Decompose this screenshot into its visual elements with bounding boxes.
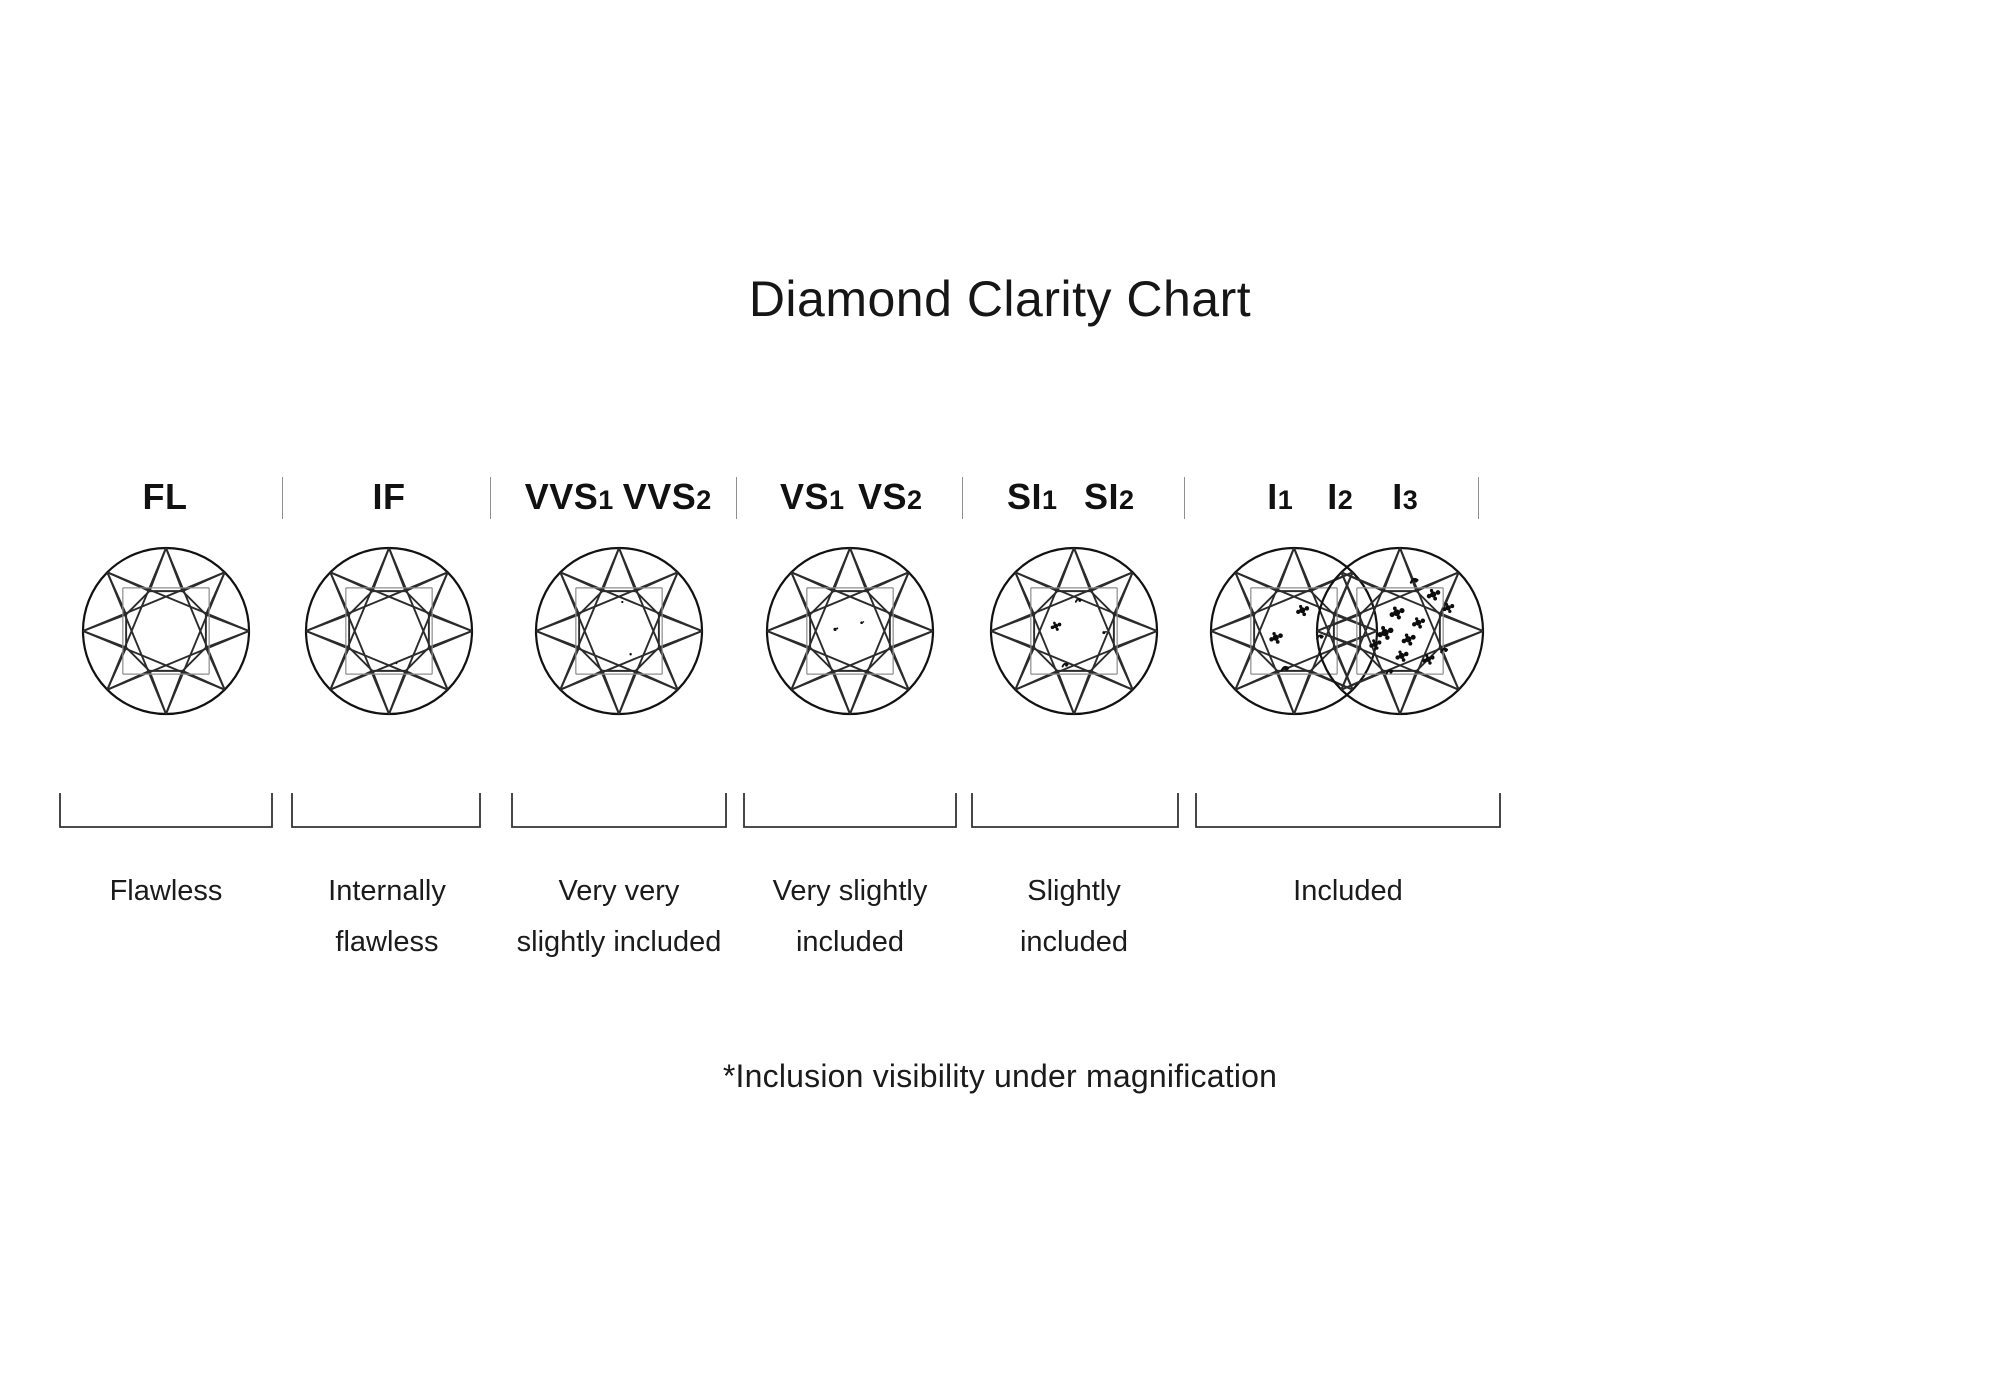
star-facet-edge: [1440, 631, 1483, 648]
inclusion-dot: [1448, 610, 1451, 613]
inclusion-cluster: [1369, 639, 1381, 649]
inclusion-dot: [1408, 642, 1412, 646]
grade-label-si1: SI1: [1007, 475, 1057, 522]
inclusion-dot: [621, 601, 623, 603]
upper-girdle-chord: [1341, 572, 1400, 714]
star-facet-edge: [767, 614, 810, 631]
star-facet-edge: [659, 648, 678, 690]
inclusion-feather: [1317, 635, 1323, 638]
star-facet-edge: [833, 671, 850, 714]
upper-girdle-chord: [1400, 548, 1459, 690]
upper-girdle-chord: [1015, 548, 1074, 690]
inclusion-cluster: [1427, 589, 1441, 601]
star-facet-edge: [1440, 648, 1459, 690]
bracket-fl: [60, 793, 272, 827]
diamond-si-0: [991, 548, 1157, 714]
girdle-outline: [767, 548, 933, 714]
column-divider-2: [490, 477, 491, 519]
inclusion-dot: [1404, 652, 1409, 657]
star-facet-edge: [1114, 648, 1133, 690]
star-facet-edge: [406, 572, 448, 591]
star-facet-edge: [206, 631, 249, 648]
inclusion-dot: [1302, 612, 1306, 616]
star-facet-edge: [636, 572, 678, 591]
star-facet-edge: [1015, 671, 1057, 690]
star-facet-edge: [372, 671, 389, 714]
star-facet-edge: [1235, 648, 1254, 690]
upper-girdle-chord: [991, 631, 1133, 690]
upper-girdle-chord: [1211, 631, 1353, 690]
upper-girdle-chord: [991, 572, 1133, 631]
inclusion-cluster: [1443, 603, 1455, 613]
upper-girdle-chord: [791, 548, 850, 690]
girdle-outline: [306, 548, 472, 714]
inclusion-cluster: [1051, 622, 1062, 631]
upper-girdle-chord: [1235, 548, 1294, 690]
inclusion-dot: [1398, 651, 1401, 654]
star-facet-edge: [659, 614, 702, 631]
star-facet-edge: [206, 648, 225, 690]
inclusion-dot: [1381, 626, 1385, 630]
star-facet-edge: [890, 614, 933, 631]
star-facet-edge: [536, 614, 579, 631]
inclusion-dot: [1296, 610, 1300, 614]
star-facet-edge: [850, 548, 867, 591]
inclusion-dot: [629, 653, 631, 655]
inclusion-dot: [1443, 607, 1447, 611]
star-facet-edge: [330, 572, 349, 614]
star-facet-edge: [833, 548, 850, 591]
page-title: Diamond Clarity Chart: [0, 270, 2000, 328]
star-facet-edge: [330, 572, 372, 591]
star-facet-edge: [991, 614, 1034, 631]
inclusion-dot: [1402, 658, 1406, 662]
star-facet-edge: [1311, 671, 1353, 690]
upper-girdle-chord: [107, 572, 249, 631]
upper-girdle-chord: [330, 572, 389, 714]
inclusion-pinpoint: [621, 601, 623, 603]
star-facet-edge: [1114, 631, 1157, 648]
inclusion-dot: [1446, 605, 1451, 610]
upper-girdle-chord: [560, 572, 619, 714]
table-facet: [1034, 591, 1114, 671]
upper-girdle-chord: [83, 631, 225, 690]
inclusion-dot: [1411, 635, 1416, 640]
star-facet-edge: [429, 572, 448, 614]
upper-girdle-chord: [1294, 548, 1353, 690]
inclusion-dot: [1393, 609, 1400, 616]
inclusion-dot: [1415, 620, 1421, 626]
inclusion-dot: [1272, 632, 1275, 635]
grade-label-i2: I2: [1327, 475, 1353, 522]
inclusion-dot: [1058, 623, 1062, 627]
inclusion-feather: [1076, 599, 1081, 602]
upper-girdle-chord: [1341, 572, 1483, 631]
inclusion-feather: [1317, 635, 1323, 638]
star-facet-edge: [83, 614, 126, 631]
star-facet-edge: [1341, 572, 1383, 591]
inclusion-cluster: [1422, 654, 1434, 664]
grade-label-if: IF: [373, 475, 406, 519]
upper-girdle-chord: [560, 631, 702, 690]
star-facet-edge: [867, 671, 909, 690]
bracket-if: [292, 793, 480, 827]
star-facet-edge: [1091, 671, 1133, 690]
inclusion-dot: [1397, 615, 1401, 619]
upper-girdle-chord: [1015, 572, 1074, 714]
star-facet-edge: [636, 671, 678, 690]
star-facet-edge: [183, 671, 225, 690]
upper-girdle-chord: [330, 572, 472, 631]
star-facet-edge: [536, 631, 579, 648]
inclusion-dot: [1372, 642, 1378, 648]
star-facet-edge: [1417, 572, 1459, 591]
inclusion-cluster: [1377, 626, 1393, 640]
inclusion-dot: [1051, 626, 1055, 630]
upper-girdle-chord: [1317, 572, 1459, 631]
inclusion-dot: [836, 627, 838, 629]
upper-girdle-chord: [619, 572, 678, 714]
upper-girdle-chord: [1317, 631, 1459, 690]
column-divider-6: [1478, 477, 1479, 519]
star-facet-edge: [791, 572, 810, 614]
star-facet-edge: [1440, 614, 1483, 631]
star-facet-edge: [1294, 671, 1311, 714]
star-facet-edge: [306, 614, 349, 631]
star-facet-edge: [560, 648, 579, 690]
girdle-outline: [1317, 548, 1483, 714]
inclusion-crystal: [860, 621, 864, 624]
inclusion-dot: [1393, 607, 1397, 611]
inclusion-dot: [1430, 655, 1434, 659]
bracket-path: [1196, 793, 1500, 827]
inclusion-crystal: [833, 627, 838, 631]
star-facet-edge: [389, 548, 406, 591]
star-facet-edge: [791, 572, 833, 591]
star-facet-edge: [166, 548, 183, 591]
inclusion-feather: [1411, 579, 1418, 583]
upper-girdle-chord: [1400, 572, 1459, 714]
upper-girdle-chord: [536, 572, 678, 631]
star-facet-edge: [83, 631, 126, 648]
star-facet-edge: [1417, 671, 1459, 690]
column-divider-5: [1184, 477, 1185, 519]
star-facet-edge: [1277, 548, 1294, 591]
grade-label-vs2: VS2: [858, 475, 922, 522]
star-facet-edge: [560, 572, 579, 614]
table-facet: [1254, 591, 1334, 671]
inclusion-crystal: [1102, 631, 1107, 634]
star-facet-edge: [1235, 671, 1277, 690]
star-facet-edge: [1334, 631, 1377, 648]
bracket-path: [512, 793, 726, 827]
inclusion-cluster: [1390, 607, 1405, 620]
upper-girdle-chord: [306, 631, 448, 690]
star-facet-edge: [1400, 671, 1417, 714]
diamond-i-0: [1211, 548, 1377, 714]
star-facet-edge: [166, 671, 183, 714]
inclusion-dot: [1385, 635, 1389, 639]
inclusion-dot: [1377, 632, 1382, 637]
star-facet-edge: [183, 572, 225, 591]
upper-girdle-chord: [791, 572, 933, 631]
inclusion-feather: [1076, 599, 1081, 602]
inclusion-dot: [1053, 624, 1058, 629]
star-facet-edge: [1057, 671, 1074, 714]
inclusion-feather: [1441, 649, 1447, 652]
inclusion-dot: [1444, 649, 1447, 652]
upper-girdle-chord: [330, 631, 472, 690]
star-facet-edge: [1211, 614, 1254, 631]
upper-girdle-chord: [767, 572, 909, 631]
star-facet-edge: [560, 572, 602, 591]
star-facet-edge: [1334, 648, 1353, 690]
star-facet-edge: [107, 572, 126, 614]
inclusion-dot: [1320, 636, 1323, 639]
star-facet-edge: [206, 572, 225, 614]
star-facet-edge: [1317, 614, 1360, 631]
star-facet-edge: [429, 631, 472, 648]
bracket-path: [292, 793, 480, 827]
inclusion-dot: [1415, 617, 1418, 620]
inclusion-dot: [1105, 631, 1107, 633]
star-facet-edge: [149, 671, 166, 714]
upper-girdle-chord: [1015, 572, 1157, 631]
group-description-vvs: Very very slightly included: [517, 866, 722, 968]
upper-girdle-chord: [1341, 548, 1400, 690]
upper-girdle-chord: [166, 572, 225, 714]
inclusion-feather: [1063, 664, 1068, 667]
inclusion-dot: [1372, 639, 1375, 642]
grade-label-i3: I3: [1392, 475, 1418, 522]
inclusion-dot: [1305, 606, 1310, 611]
inclusion-dot: [1402, 639, 1407, 644]
inclusion-cluster: [1395, 651, 1408, 662]
table-facet: [126, 591, 206, 671]
upper-girdle-chord: [1074, 548, 1133, 690]
inclusion-feather: [1387, 670, 1393, 673]
inclusion-dot: [1381, 629, 1388, 636]
inclusion-feather: [1063, 664, 1068, 667]
inclusion-dot: [1375, 646, 1378, 649]
upper-girdle-chord: [1235, 572, 1294, 714]
star-facet-edge: [890, 572, 909, 614]
group-description-i: Included: [1293, 866, 1403, 917]
star-facet-edge: [1015, 572, 1034, 614]
diamond-vvs-0: [536, 548, 702, 714]
column-divider-1: [282, 477, 283, 519]
bracket-vvs: [512, 793, 726, 827]
diamond-clarity-chart: Diamond Clarity Chart FLIFVVS1VVS2VS1VS2…: [0, 0, 2000, 1400]
bracket-path: [60, 793, 272, 827]
inclusion-dot: [1276, 640, 1280, 644]
bracket-vs: [744, 793, 956, 827]
upper-girdle-chord: [1015, 631, 1157, 690]
inclusion-dot: [1078, 599, 1081, 602]
star-facet-edge: [1235, 572, 1277, 591]
inclusion-dot: [1425, 656, 1431, 662]
inclusion-dot: [1278, 633, 1283, 638]
inclusion-dot: [1430, 589, 1433, 592]
inclusion-dot: [1412, 622, 1416, 626]
star-facet-edge: [867, 572, 909, 591]
inclusion-dot: [1390, 612, 1395, 617]
star-facet-edge: [890, 648, 909, 690]
upper-girdle-chord: [1235, 631, 1377, 690]
upper-girdle-chord: [107, 548, 166, 690]
grade-labels-row: FLIFVVS1VVS2VS1VS2SI1SI2I1I2I3: [0, 475, 2000, 521]
star-facet-edge: [1334, 614, 1377, 631]
inclusion-feather: [1411, 579, 1418, 583]
star-facet-edge: [429, 614, 472, 631]
inclusion-dot: [1422, 659, 1426, 663]
bracket-i: [1196, 793, 1500, 827]
star-facet-edge: [372, 548, 389, 591]
star-facet-edge: [389, 671, 406, 714]
inclusion-dot: [1450, 604, 1454, 608]
girdle-outline: [536, 548, 702, 714]
grade-label-si2: SI2: [1084, 475, 1134, 522]
grade-label-vvs1: VVS1: [525, 475, 614, 522]
inclusion-dot: [1445, 603, 1448, 606]
inclusion-dot: [1102, 631, 1105, 634]
upper-girdle-chord: [1074, 572, 1133, 714]
star-facet-edge: [602, 671, 619, 714]
inclusion-dot: [863, 621, 865, 623]
inclusion-cluster: [1402, 634, 1416, 646]
inclusion-dot: [1427, 594, 1431, 598]
inclusion-dot: [1425, 654, 1428, 657]
star-facet-edge: [659, 572, 678, 614]
grade-label-vs1: VS1: [780, 475, 844, 522]
girdle-outline: [83, 548, 249, 714]
upper-girdle-chord: [536, 631, 678, 690]
inclusion-feather: [1387, 670, 1393, 673]
star-facet-edge: [1400, 548, 1417, 591]
star-facet-edge: [659, 631, 702, 648]
star-facet-edge: [1015, 648, 1034, 690]
inclusion-dot: [1395, 655, 1399, 659]
inclusion-dot: [1399, 608, 1404, 613]
inclusion-dot: [1405, 636, 1411, 642]
inclusion-cluster: [1412, 617, 1425, 628]
star-facet-edge: [619, 671, 636, 714]
column-divider-4: [962, 477, 963, 519]
star-facet-edge: [330, 671, 372, 690]
grade-label-vvs2: VVS2: [623, 475, 712, 522]
diamond-i-1: [1317, 548, 1483, 714]
inclusion-pinpoint: [396, 662, 398, 664]
inclusion-cluster: [1296, 605, 1309, 616]
inclusion-dot: [1065, 664, 1068, 667]
star-facet-edge: [791, 671, 833, 690]
upper-girdle-chord: [1294, 572, 1353, 714]
inclusion-dot: [1436, 590, 1441, 595]
upper-girdle-chord: [389, 572, 448, 714]
footnote: *Inclusion visibility under magnificatio…: [0, 1058, 2000, 1095]
upper-girdle-chord: [767, 631, 909, 690]
inclusion-pinpoint: [629, 653, 631, 655]
group-description-vs: Very slightly included: [773, 866, 928, 968]
star-facet-edge: [1015, 572, 1057, 591]
diamond-diagram-layer: [0, 0, 2000, 1400]
group-description-fl: Flawless: [110, 866, 223, 917]
star-facet-edge: [619, 548, 636, 591]
inclusion-dot: [1377, 640, 1381, 644]
inclusion-dot: [1414, 579, 1418, 583]
star-facet-edge: [767, 631, 810, 648]
inclusion-feather: [1282, 667, 1289, 671]
star-facet-edge: [149, 548, 166, 591]
inclusion-dot: [1421, 619, 1426, 624]
inclusion-dot: [1053, 622, 1056, 625]
upper-girdle-chord: [560, 572, 702, 631]
diamond-fl-0: [83, 548, 249, 714]
column-divider-3: [736, 477, 737, 519]
upper-girdle-chord: [619, 548, 678, 690]
upper-girdle-chord: [1211, 572, 1353, 631]
upper-girdle-chord: [1235, 572, 1377, 631]
star-facet-edge: [850, 671, 867, 714]
star-facet-edge: [406, 671, 448, 690]
inclusion-dot: [1299, 605, 1302, 608]
inclusion-dot: [1056, 628, 1059, 631]
inclusion-cluster: [1269, 632, 1283, 644]
star-facet-edge: [1341, 648, 1360, 690]
inclusion-dot: [1405, 634, 1408, 637]
upper-girdle-chord: [107, 631, 249, 690]
inclusion-dot: [1433, 597, 1437, 601]
bracket-path: [972, 793, 1178, 827]
star-facet-edge: [1383, 548, 1400, 591]
star-facet-edge: [1074, 548, 1091, 591]
upper-girdle-chord: [1341, 631, 1483, 690]
upper-girdle-chord: [389, 548, 448, 690]
upper-girdle-chord: [83, 572, 225, 631]
star-facet-edge: [1311, 572, 1353, 591]
inclusion-feather: [1441, 649, 1447, 652]
diamond-if-0: [306, 548, 472, 714]
star-facet-edge: [1294, 548, 1311, 591]
girdle-outline: [991, 548, 1157, 714]
group-description-si: Slightly included: [1020, 866, 1128, 968]
star-facet-edge: [306, 631, 349, 648]
inclusion-dot: [1299, 607, 1305, 613]
star-facet-edge: [1091, 572, 1133, 591]
star-facet-edge: [791, 648, 810, 690]
star-facet-edge: [560, 671, 602, 690]
star-facet-edge: [1341, 572, 1360, 614]
bracket-si: [972, 793, 1178, 827]
table-facet: [579, 591, 659, 671]
star-facet-edge: [1235, 572, 1254, 614]
inclusion-dot: [1430, 591, 1436, 597]
star-facet-edge: [1114, 572, 1133, 614]
inclusion-dot: [1418, 625, 1422, 629]
bracket-path: [744, 793, 956, 827]
star-facet-edge: [107, 572, 149, 591]
star-facet-edge: [1114, 614, 1157, 631]
upper-girdle-chord: [306, 572, 448, 631]
star-facet-edge: [429, 648, 448, 690]
star-facet-edge: [1074, 671, 1091, 714]
upper-girdle-chord: [791, 631, 933, 690]
star-facet-edge: [107, 648, 126, 690]
star-facet-edge: [1341, 671, 1383, 690]
upper-girdle-chord: [791, 572, 850, 714]
star-facet-edge: [602, 548, 619, 591]
upper-girdle-chord: [107, 572, 166, 714]
